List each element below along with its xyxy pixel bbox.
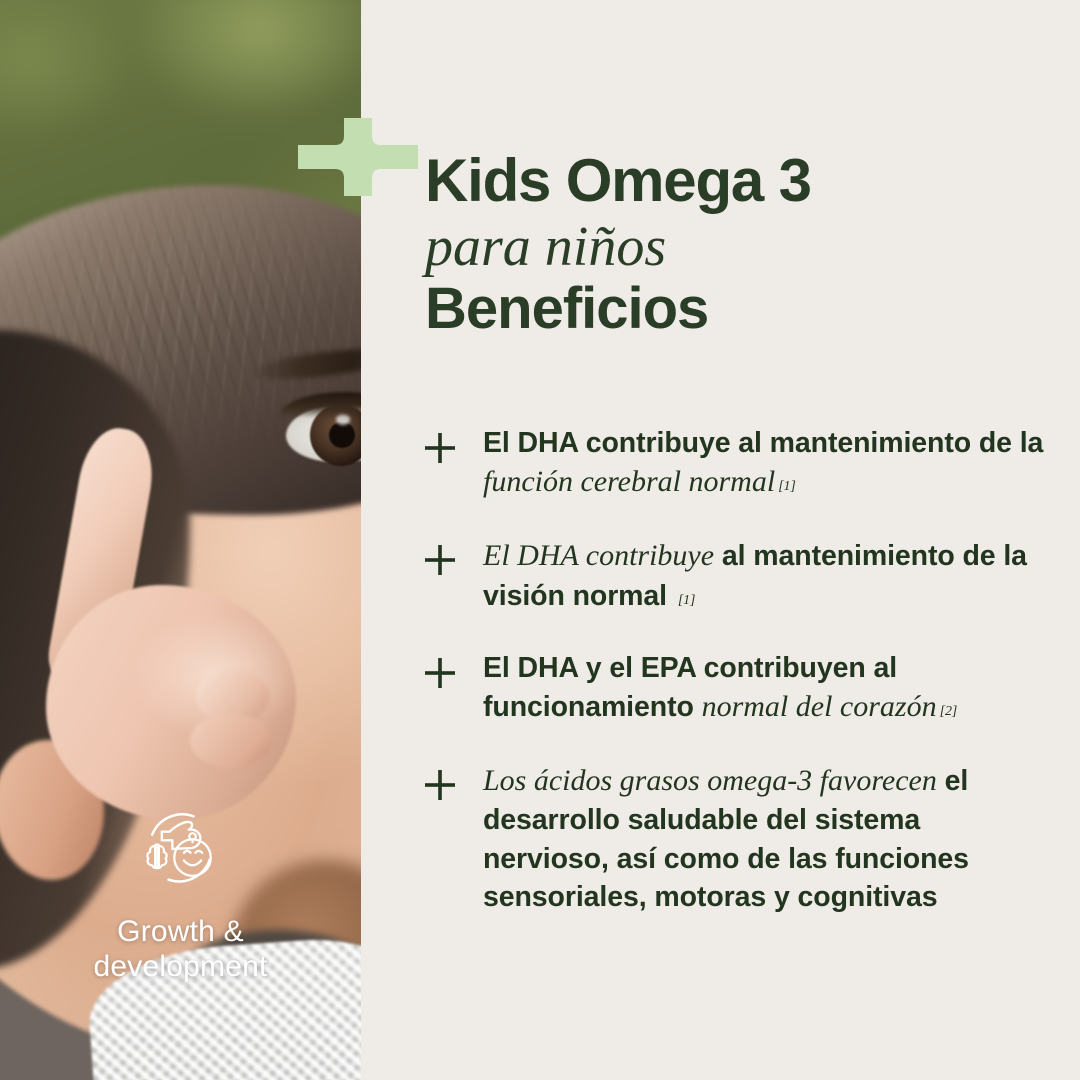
growth-development-icon <box>133 800 229 896</box>
content-column: Kids Omega 3 para niños Beneficios El DH… <box>425 0 1050 1080</box>
benefit-plus-marker <box>425 770 455 800</box>
benefit-item: El DHA contribuye al mantenimiento de la… <box>425 424 1050 502</box>
badge-line-2: development <box>0 949 361 984</box>
plus-icon <box>425 658 455 688</box>
benefit-text-segment: El DHA contribuye al mantenimiento de la <box>483 427 1043 459</box>
plus-icon <box>425 545 455 575</box>
page-title: Kids Omega 3 para niños Beneficios <box>425 150 1050 340</box>
benefit-text-segment: función cerebral normal <box>483 465 775 498</box>
poster-canvas: Growth & development Kids Omega 3 para n… <box>0 0 1080 1080</box>
benefit-item: El DHA y el EPA contribuyen al funcionam… <box>425 649 1050 727</box>
benefit-plus-marker <box>425 433 455 463</box>
growth-development-badge: Growth & development <box>0 800 361 984</box>
benefit-text: El DHA y el EPA contribuyen al funcionam… <box>483 649 1050 727</box>
benefit-text-segment: Los ácidos grasos omega-3 favorecen <box>483 764 937 797</box>
benefit-text-segment: normal del corazón <box>702 690 937 723</box>
benefit-text: Los ácidos grasos omega-3 favorecen el d… <box>483 761 1050 916</box>
plus-icon <box>425 433 455 463</box>
photo-pupil <box>329 422 355 448</box>
benefits-list: El DHA contribuye al mantenimiento de la… <box>425 424 1050 916</box>
badge-line-1: Growth & <box>0 914 361 949</box>
benefit-reference: [2] <box>940 704 958 719</box>
plus-icon <box>425 770 455 800</box>
benefit-text-segment: El DHA contribuye <box>483 539 714 572</box>
benefit-item: El DHA contribuye al mantenimiento de la… <box>425 536 1050 614</box>
benefit-plus-marker <box>425 658 455 688</box>
photo-knuckle-lower <box>190 714 272 768</box>
benefit-reference: [1] <box>678 593 696 608</box>
benefit-text: El DHA contribuye al mantenimiento de la… <box>483 424 1050 502</box>
title-line-3: Beneficios <box>425 278 1050 339</box>
title-line-1: Kids Omega 3 <box>425 150 1050 212</box>
title-line-2: para niños <box>425 214 1050 280</box>
benefit-reference: [1] <box>778 479 796 494</box>
benefit-plus-marker <box>425 545 455 575</box>
benefit-text: El DHA contribuye al mantenimiento de la… <box>483 536 1050 614</box>
benefit-item: Los ácidos grasos omega-3 favorecen el d… <box>425 761 1050 916</box>
decorative-plus-icon <box>298 118 418 196</box>
